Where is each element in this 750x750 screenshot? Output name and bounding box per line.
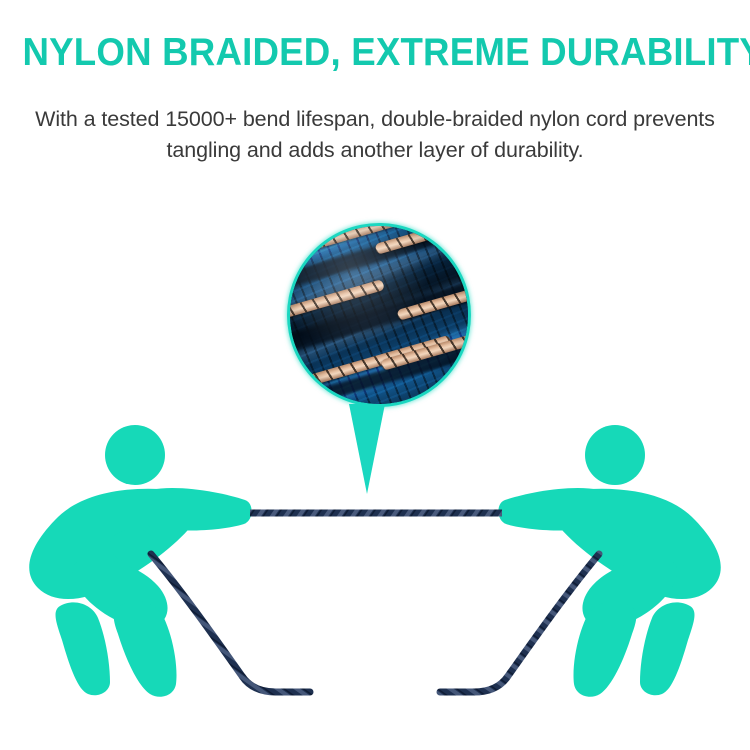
tug-of-war-illustration bbox=[0, 0, 750, 750]
figure-front-arm bbox=[498, 488, 611, 531]
figure-front-arm bbox=[139, 488, 252, 531]
tug-of-war-figure-right bbox=[498, 425, 720, 697]
figure-rear-hand bbox=[110, 529, 153, 562]
figure-back-leg bbox=[56, 602, 110, 695]
figure-back-leg bbox=[640, 602, 694, 695]
tug-of-war-figure-left bbox=[29, 425, 251, 697]
figure-front-leg bbox=[574, 601, 637, 697]
figure-front-leg bbox=[114, 601, 177, 697]
promo-poster: NYLON BRAIDED, EXTREME DURABILITY With a… bbox=[0, 0, 750, 750]
figure-head bbox=[585, 425, 645, 485]
figure-head bbox=[105, 425, 165, 485]
figure-rear-hand bbox=[597, 529, 640, 562]
